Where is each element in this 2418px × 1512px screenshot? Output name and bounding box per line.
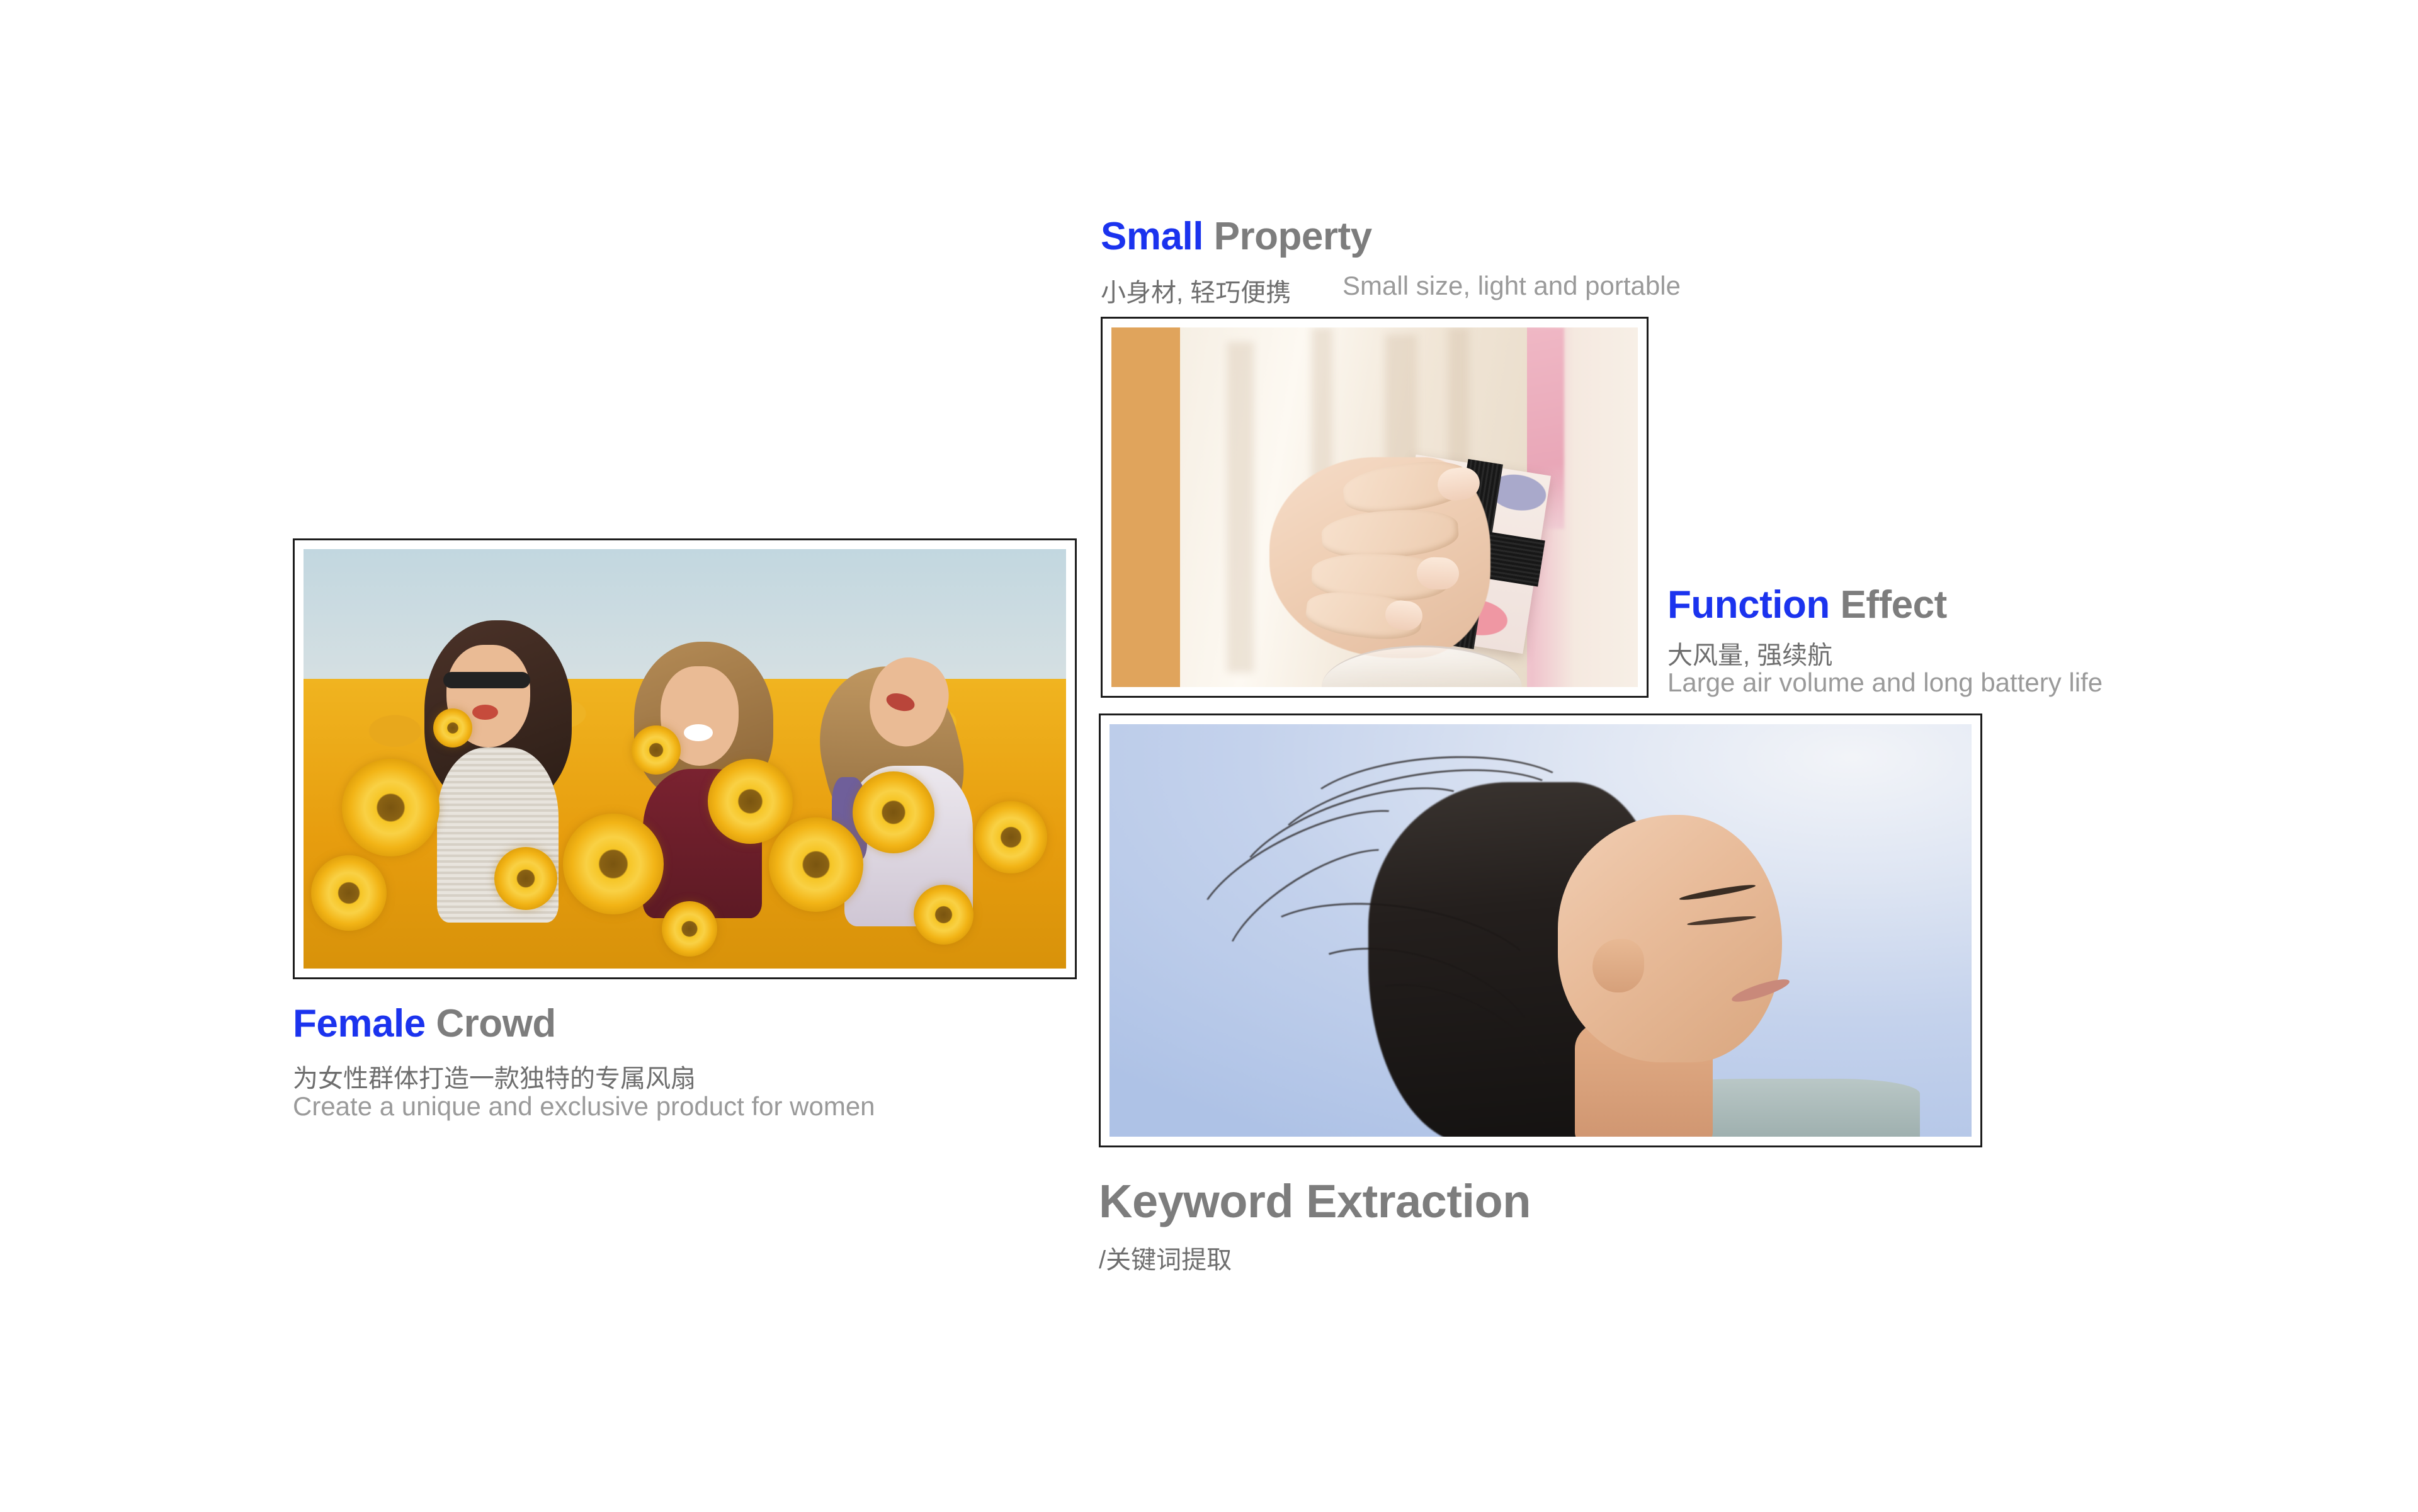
heading-accent-small: Small [1101,215,1203,258]
sunflower [975,801,1047,873]
sunflower [433,708,472,747]
subtitle-en-female-crowd: Create a unique and exclusive product fo… [293,1091,875,1122]
sunflower [342,759,440,856]
photo-sunflower-field [304,549,1066,969]
sunflower [662,901,717,957]
page-title-keyword-extraction: Keyword Extraction [1099,1174,1531,1228]
image-frame-keyword-extraction [1099,713,1982,1147]
photo-hair-in-wind [1110,724,1972,1137]
heading-plain-effect: Effect [1840,583,1946,627]
sunflower [632,725,681,775]
subtitle-cn-small-property: 小身材, 轻巧便携 [1101,272,1291,309]
heading-accent-female: Female [293,1002,426,1045]
face-profile [1558,815,1782,1062]
subtitle-en-small-property: Small size, light and portable [1342,271,1681,301]
heading-function-effect: Function Effect [1667,583,1947,627]
heading-small-property: Small Property [1101,214,1372,259]
sunflower [708,759,793,844]
sunflower [853,771,934,853]
subtitle-cn-keyword-extraction: /关键词提取 [1099,1239,1232,1276]
sunflower [311,855,387,931]
sunflower [914,885,973,945]
subtitle-cn-female-crowd: 为女性群体打造一款独特的专属风扇 [293,1058,696,1094]
sunflower [563,814,664,914]
sunflower [494,847,557,910]
subtitle-cn-function-effect: 大风量, 强续航 [1667,635,1832,671]
fingernail [1416,557,1460,591]
slide-canvas: Female Crowd 为女性群体打造一款独特的专属风扇 Create a u… [0,0,2418,1512]
sunflower [769,817,863,912]
ear [1592,939,1644,992]
heading-plain-property: Property [1214,215,1372,258]
image-frame-small-property [1101,317,1649,698]
heading-female-crowd: Female Crowd [293,1001,556,1046]
heading-plain-crowd: Crowd [436,1002,555,1045]
photo-hand-holding-fan [1111,327,1638,687]
heading-accent-function: Function [1667,583,1830,627]
subtitle-en-function-effect: Large air volume and long battery life [1667,668,2103,698]
image-frame-female-crowd [293,538,1077,979]
